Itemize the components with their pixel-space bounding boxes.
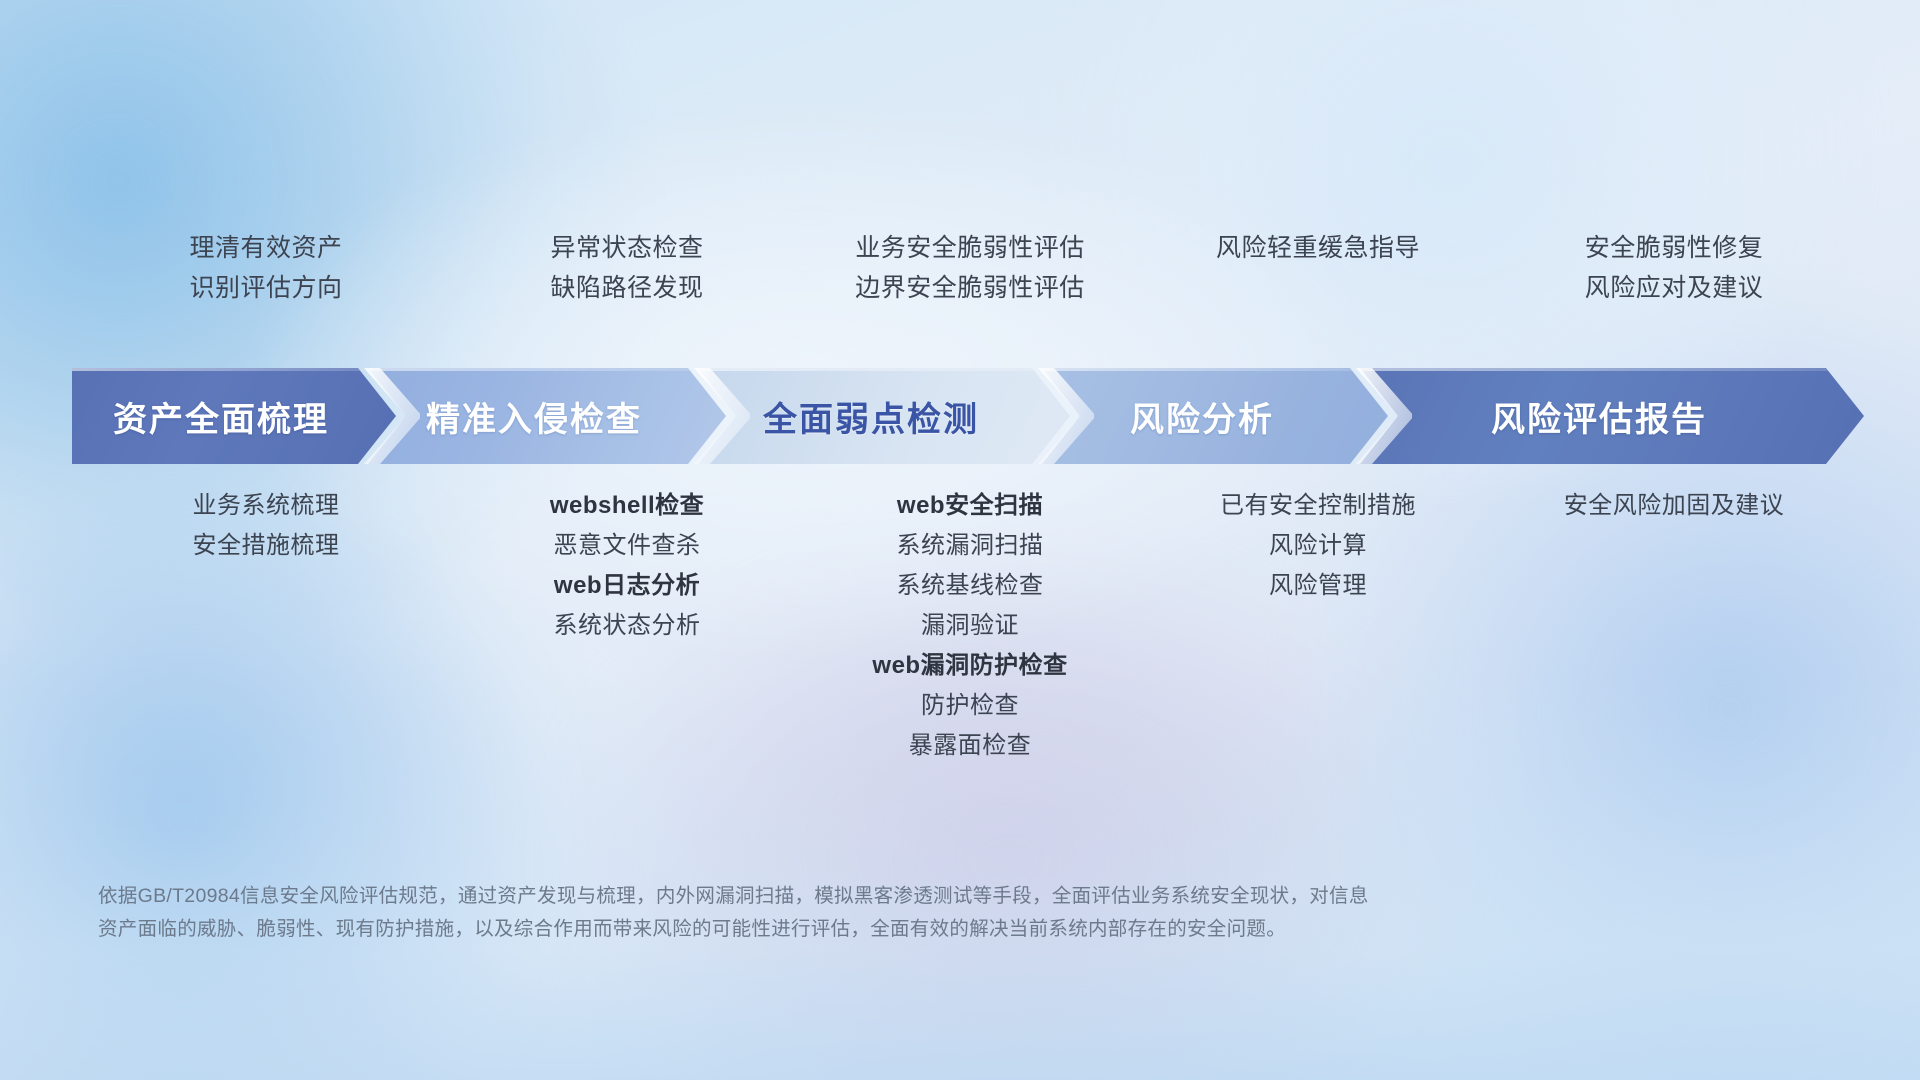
list-item: webshell检查 <box>462 486 792 526</box>
stage-arrow-risk-report[interactable]: 风险评估报告 <box>1360 368 1864 464</box>
top-label-item: 风险应对及建议 <box>1488 268 1860 308</box>
top-labels-intrusion-check: 异常状态检查 缺陷路径发现 <box>462 228 792 338</box>
stage-arrow-weakness-detection[interactable]: 全面弱点检测 <box>698 368 1070 464</box>
list-item: 系统状态分析 <box>462 606 792 646</box>
top-label-item: 识别评估方向 <box>70 268 462 308</box>
list-item: web安全扫描 <box>792 486 1148 526</box>
list-item: 安全措施梳理 <box>70 526 462 566</box>
top-label-item: 异常状态检查 <box>462 228 792 268</box>
bottom-list-risk-analysis: 已有安全控制措施 风险计算 风险管理 <box>1148 486 1488 606</box>
bottom-list-asset-inventory: 业务系统梳理 安全措施梳理 <box>70 486 462 566</box>
list-item: 系统漏洞扫描 <box>792 526 1148 566</box>
top-labels-risk-analysis: 风险轻重缓急指导 <box>1148 228 1488 338</box>
top-label-item: 理清有效资产 <box>70 228 462 268</box>
stage-arrow-asset-inventory[interactable]: 资产全面梳理 <box>72 368 396 464</box>
top-label-item: 风险轻重缓急指导 <box>1148 228 1488 268</box>
top-label-item: 安全脆弱性修复 <box>1488 228 1860 268</box>
list-item: 已有安全控制措施 <box>1148 486 1488 526</box>
list-item: web漏洞防护检查 <box>792 646 1148 686</box>
bottom-list-intrusion-check: webshell检查 恶意文件查杀 web日志分析 系统状态分析 <box>462 486 792 646</box>
list-item: 防护检查 <box>792 686 1148 726</box>
list-item: web日志分析 <box>462 566 792 606</box>
list-item: 风险管理 <box>1148 566 1488 606</box>
footer-line: 依据GB/T20984信息安全风险评估规范，通过资产发现与梳理，内外网漏洞扫描，… <box>98 880 1658 913</box>
bottom-list-row: 业务系统梳理 安全措施梳理 webshell检查 恶意文件查杀 web日志分析 … <box>70 486 1860 766</box>
top-label-item: 边界安全脆弱性评估 <box>792 268 1148 308</box>
top-label-row: 理清有效资产 识别评估方向 异常状态检查 缺陷路径发现 业务安全脆弱性评估 边界… <box>70 228 1860 338</box>
top-label-item: 业务安全脆弱性评估 <box>792 228 1148 268</box>
stage-title: 精准入侵检查 <box>426 392 668 441</box>
process-flow-diagram: 理清有效资产 识别评估方向 异常状态检查 缺陷路径发现 业务安全脆弱性评估 边界… <box>0 0 1920 1080</box>
top-labels-weakness-detection: 业务安全脆弱性评估 边界安全脆弱性评估 <box>792 228 1148 338</box>
top-labels-asset-inventory: 理清有效资产 识别评估方向 <box>70 228 462 338</box>
stage-title: 全面弱点检测 <box>763 392 1005 441</box>
bottom-list-weakness-detection: web安全扫描 系统漏洞扫描 系统基线检查 漏洞验证 web漏洞防护检查 防护检… <box>792 486 1148 766</box>
list-item: 系统基线检查 <box>792 566 1148 606</box>
stage-arrow-band: 资产全面梳理 精准入侵检查 全面弱点检测 风险分析 风险评估报告 <box>72 368 1864 464</box>
footer-description: 依据GB/T20984信息安全风险评估规范，通过资产发现与梳理，内外网漏洞扫描，… <box>98 880 1658 946</box>
list-item: 业务系统梳理 <box>70 486 462 526</box>
footer-line: 资产面临的威胁、脆弱性、现有防护措施，以及综合作用而带来风险的可能性进行评估，全… <box>98 913 1658 946</box>
list-item: 暴露面检查 <box>792 726 1148 766</box>
stage-arrow-risk-analysis[interactable]: 风险分析 <box>1042 368 1388 464</box>
stage-title: 资产全面梳理 <box>113 392 355 441</box>
list-item: 恶意文件查杀 <box>462 526 792 566</box>
stage-title: 风险分析 <box>1130 392 1300 441</box>
bottom-list-risk-report: 安全风险加固及建议 <box>1488 486 1860 526</box>
top-labels-risk-report: 安全脆弱性修复 风险应对及建议 <box>1488 228 1860 338</box>
list-item: 风险计算 <box>1148 526 1488 566</box>
stage-arrow-intrusion-check[interactable]: 精准入侵检查 <box>368 368 726 464</box>
stage-title: 风险评估报告 <box>1491 392 1733 441</box>
list-item: 安全风险加固及建议 <box>1488 486 1860 526</box>
list-item: 漏洞验证 <box>792 606 1148 646</box>
top-label-item: 缺陷路径发现 <box>462 268 792 308</box>
